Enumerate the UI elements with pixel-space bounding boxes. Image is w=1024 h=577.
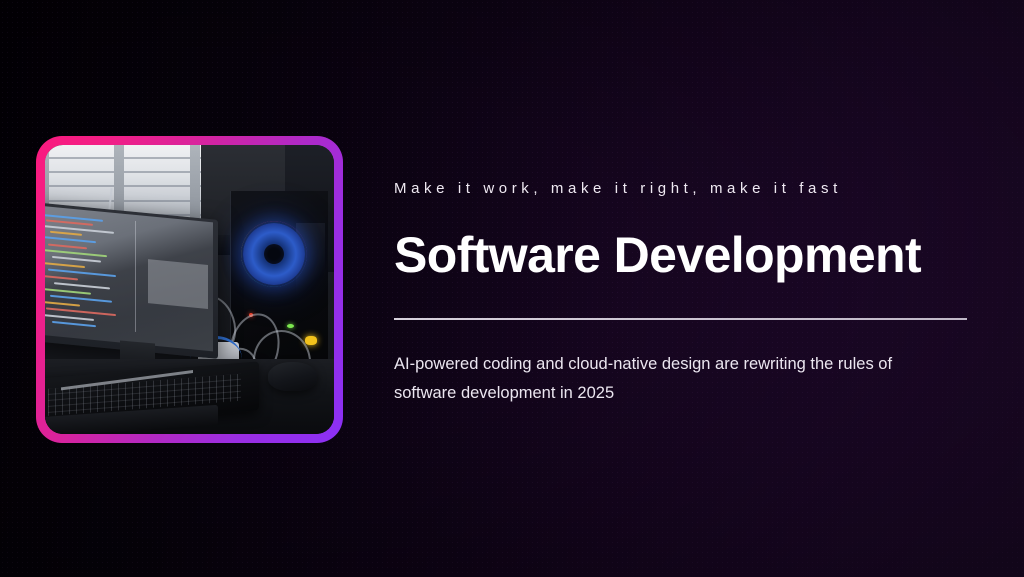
photo-code-line	[52, 321, 96, 327]
workstation-photo	[45, 145, 334, 434]
photo-code-line	[49, 244, 88, 250]
photo-monitor	[45, 203, 218, 360]
divider	[394, 318, 967, 320]
photo-code-line	[45, 237, 97, 244]
photo-code-line	[52, 257, 102, 264]
photo-code-line	[50, 231, 82, 236]
photo-rgb-fan-hub	[264, 244, 284, 264]
content-block: Make it work, make it right, make it fas…	[394, 136, 967, 408]
slide-background: Make it work, make it right, make it fas…	[0, 0, 1024, 577]
page-title: Software Development	[394, 230, 967, 280]
photo-editor-split	[136, 221, 137, 332]
body-text: AI-powered coding and cloud-native desig…	[394, 350, 946, 408]
photo-code-line	[45, 262, 86, 268]
photo-editor-panel	[148, 260, 208, 310]
photo-green-led	[287, 324, 294, 328]
tagline: Make it work, make it right, make it fas…	[394, 136, 967, 196]
photo-code-line	[45, 275, 79, 280]
photo-yellow-led	[305, 336, 317, 345]
photo-code-line	[45, 314, 95, 321]
photo-code-line	[45, 288, 91, 295]
photo-mouse	[268, 362, 317, 391]
photo-monitor-screen	[45, 206, 214, 352]
photo-rgb-fan	[243, 223, 305, 285]
photo-frame	[36, 136, 343, 443]
photo-code-line	[45, 301, 81, 307]
